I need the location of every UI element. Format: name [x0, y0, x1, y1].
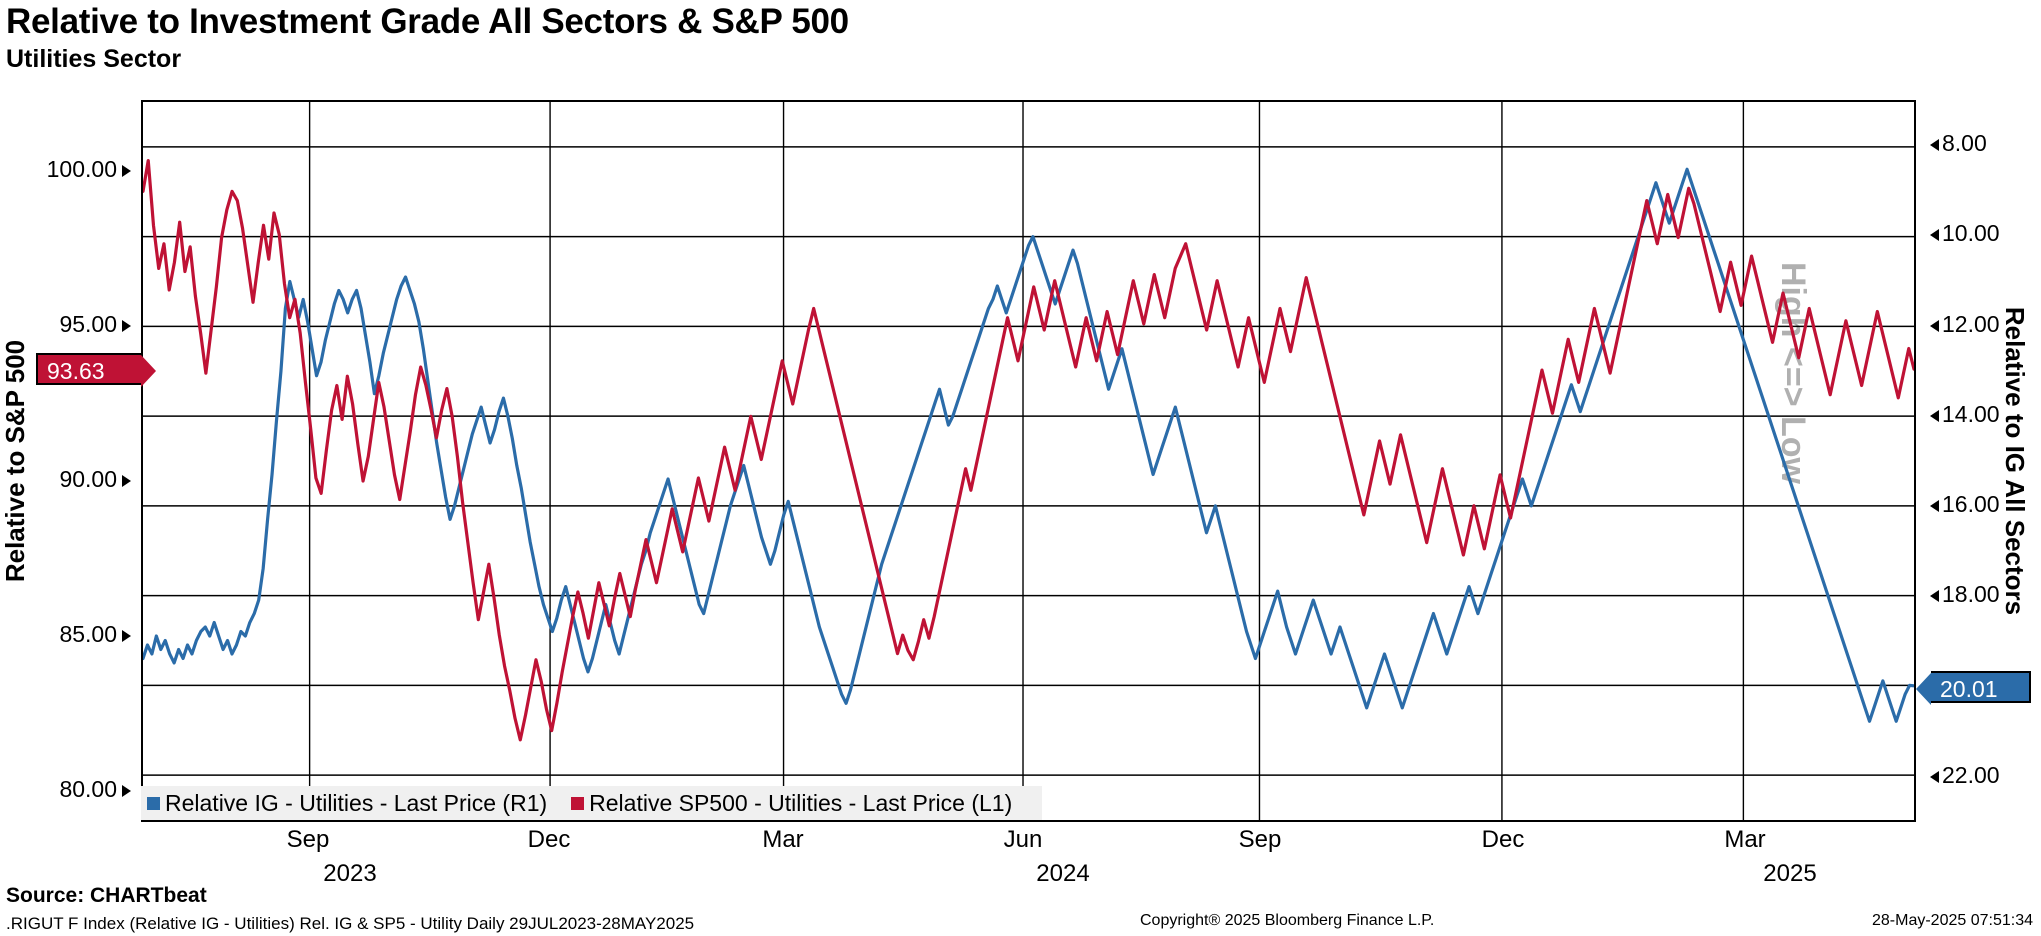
y-right-tick-arrow-3 [1930, 410, 1939, 422]
left-value-text: 93.63 [47, 358, 105, 384]
legend-label: Relative IG - Utilities - Last Price (R1… [165, 790, 547, 817]
x-tick-dec-5: Dec [1482, 826, 1525, 854]
description-label: .RIGUT F Index (Relative IG - Utilities)… [6, 914, 694, 934]
y-right-tick-0: 8.00 [1942, 130, 1987, 157]
y-right-tick-arrow-0 [1930, 139, 1939, 151]
chart-legend[interactable]: Relative IG - Utilities - Last Price (R1… [141, 786, 1042, 820]
left-tag-pointer [141, 355, 156, 387]
y-right-tick-1: 10.00 [1942, 220, 2000, 247]
y-axis-left-labels: 100.0095.0090.0085.0080.00 [0, 100, 131, 822]
y-left-tick-arrow-3 [122, 630, 131, 642]
y-right-tick-arrow-2 [1930, 320, 1939, 332]
y-left-tick-1: 95.00 [59, 311, 117, 338]
y-right-tick-3: 14.00 [1942, 401, 2000, 428]
x-tick-dec-1: Dec [528, 826, 571, 854]
legend-entry-1[interactable]: Relative SP500 - Utilities - Last Price … [571, 790, 1012, 817]
plot-wrapper: High <=> Low [141, 100, 1916, 822]
left-value-tag: 93.63 [36, 353, 141, 385]
y-right-tick-2: 12.00 [1942, 311, 2000, 338]
page-subtitle: Utilities Sector [6, 44, 849, 74]
y-left-tick-arrow-2 [122, 475, 131, 487]
y-left-tick-4: 80.00 [59, 776, 117, 803]
page-title: Relative to Investment Grade All Sectors… [6, 2, 849, 42]
x-year-label-2023: 2023 [323, 860, 376, 888]
x-tick-jun-3: Jun [1004, 826, 1043, 854]
y-right-tick-arrow-1 [1930, 229, 1939, 241]
y-right-tick-arrow-4 [1930, 500, 1939, 512]
y-left-tick-0: 100.00 [47, 156, 117, 183]
timestamp-label: 28-May-2025 07:51:34 [1872, 912, 2033, 930]
x-year-label-2025: 2025 [1763, 860, 1816, 888]
y-axis-right-labels: 8.0010.0012.0014.0016.0018.0020.0022.00 [1926, 100, 2036, 822]
x-tick-mar-6: Mar [1724, 826, 1765, 854]
data-series [143, 102, 1914, 820]
y-right-tick-4: 16.00 [1942, 491, 2000, 518]
x-tick-mar-2: Mar [762, 826, 803, 854]
y-left-tick-arrow-0 [122, 165, 131, 177]
x-tick-sep-4: Sep [1239, 826, 1282, 854]
y-left-tick-2: 90.00 [59, 466, 117, 493]
y-right-tick-5: 18.00 [1942, 581, 2000, 608]
plot-area[interactable]: High <=> Low [141, 100, 1916, 822]
legend-entry-0[interactable]: Relative IG - Utilities - Last Price (R1… [147, 790, 547, 817]
legend-swatch-icon [571, 797, 584, 810]
legend-swatch-icon [147, 797, 160, 810]
source-label: Source: CHARTbeat [6, 884, 207, 908]
y-left-tick-arrow-4 [122, 785, 131, 797]
y-left-tick-arrow-1 [122, 320, 131, 332]
x-tick-sep-0: Sep [287, 826, 330, 854]
legend-label: Relative SP500 - Utilities - Last Price … [589, 790, 1012, 817]
title-block: Relative to Investment Grade All Sectors… [6, 2, 849, 74]
right-tag-pointer [1916, 673, 1931, 705]
y-right-tick-arrow-5 [1930, 590, 1939, 602]
y-left-tick-3: 85.00 [59, 621, 117, 648]
x-axis-labels: SepDecMarJunSepDecMar202320242025 [141, 826, 1916, 896]
y-right-tick-arrow-7 [1930, 771, 1939, 783]
y-right-tick-7: 22.00 [1942, 762, 2000, 789]
copyright-label: Copyright® 2025 Bloomberg Finance L.P. [1140, 912, 1434, 930]
right-value-text: 20.01 [1940, 676, 1998, 702]
x-year-label-2024: 2024 [1036, 860, 1089, 888]
right-value-tag: 20.01 [1931, 671, 2031, 703]
